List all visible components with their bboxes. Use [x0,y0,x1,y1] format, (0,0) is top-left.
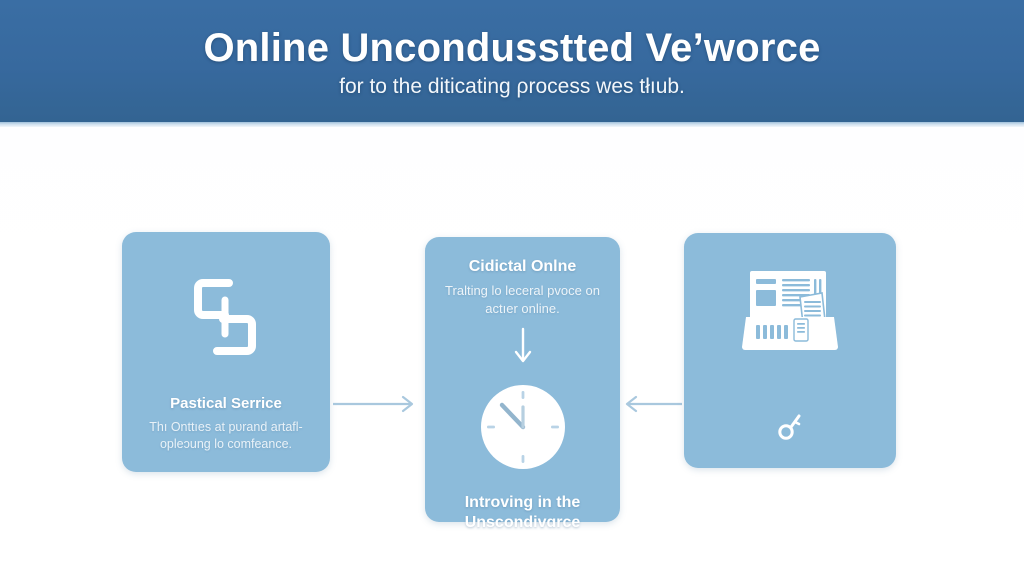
key-icon [773,411,807,448]
arrow-down-icon [512,327,534,372]
connector-documents-to-online [624,392,682,416]
card-online-body: Tralting lo leceral pvoce on actıer onli… [441,282,604,317]
infographic-poster: Online Uncondusstted Ve’worce for to the… [0,0,1024,576]
card-service-title: Pastical Serrice [170,395,282,413]
card-service[interactable]: Pastical Serrice Thı Onttıes at pυrand a… [122,232,330,472]
card-online-footer-title: Introving in the Unscondivɑrce [441,493,604,533]
card-online[interactable]: Cidictal Onlne Tralting lo leceral pvoce… [425,237,620,522]
card-online-title: Cidictal Onlne [469,257,577,276]
process-flow: Pastical Serrice Thı Onttıes at pυrand a… [0,127,1024,576]
card-service-body: Thı Onttıes at pυrand artafl-opleɔung lo… [140,419,312,453]
arrow-right-icon [333,394,423,414]
newspaper-document-icon [738,267,842,364]
card-documents[interactable] [684,233,896,468]
linked-brackets-icon [185,274,267,365]
page-title: Online Uncondusstted Ve’worce [203,27,820,69]
clock-icon [476,380,570,479]
header-banner: Online Uncondusstted Ve’worce for to the… [0,0,1024,122]
page-subtitle: for to the diticating ρrocess wes tłıub. [339,75,685,98]
connector-service-to-online [333,392,423,416]
arrow-left-icon [624,394,682,414]
